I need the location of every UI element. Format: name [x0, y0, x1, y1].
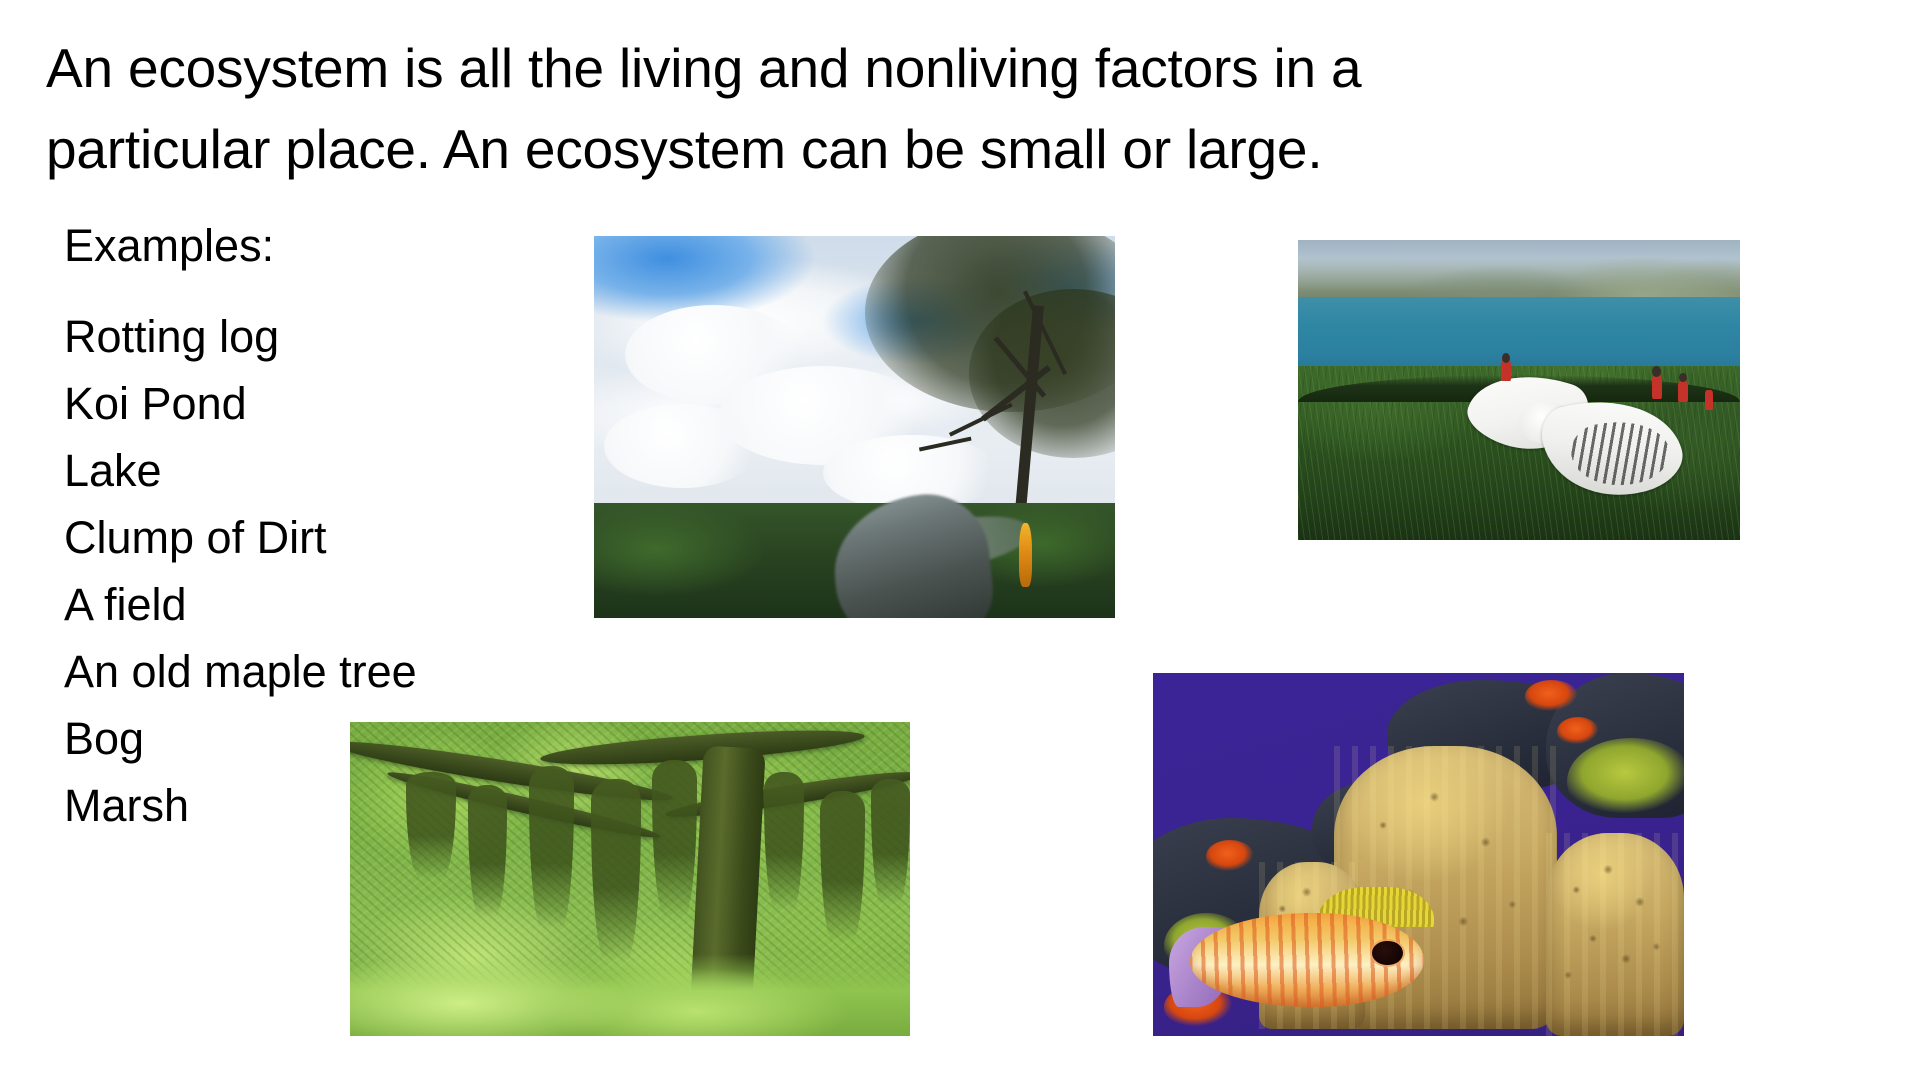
- list-item: A field: [64, 571, 624, 638]
- person-red-jacket: [1501, 360, 1511, 381]
- hanging-moss: [764, 772, 803, 910]
- fish-eye: [1372, 941, 1402, 966]
- orange-coral: [1557, 717, 1599, 746]
- forest-floor: [350, 954, 910, 1036]
- list-item: Lake: [64, 437, 624, 504]
- cloud-shape: [604, 404, 760, 488]
- hanging-moss: [406, 772, 456, 879]
- list-item: An old maple tree: [64, 638, 624, 705]
- orange-flower: [1019, 523, 1033, 588]
- person-red-jacket: [1678, 381, 1688, 402]
- hanging-moss: [529, 766, 574, 929]
- title-line-1: An ecosystem is all the living and nonli…: [46, 28, 1826, 109]
- coral-reef-photo: [1153, 673, 1684, 1036]
- examples-heading: Examples:: [64, 218, 624, 273]
- mossy-rainforest-photo: [350, 722, 910, 1036]
- person-head: [1652, 366, 1660, 377]
- sponge-texture: [1546, 833, 1684, 1036]
- orange-coral: [1525, 680, 1578, 713]
- list-item: Rotting log: [64, 303, 624, 370]
- person-head: [1502, 353, 1510, 363]
- list-item: Koi Pond: [64, 370, 624, 437]
- hanging-moss: [652, 760, 697, 917]
- hanging-moss: [820, 791, 865, 942]
- albatross-coast-photo: [1298, 240, 1740, 540]
- person-red-jacket: [1705, 390, 1714, 410]
- hanging-moss: [871, 779, 910, 905]
- tree-over-river-photo: [594, 236, 1115, 618]
- hanging-moss: [591, 779, 641, 961]
- list-item: Clump of Dirt: [64, 504, 624, 571]
- slide-title: An ecosystem is all the living and nonli…: [46, 28, 1826, 190]
- squirrelfish: [1190, 913, 1424, 1007]
- hanging-moss: [468, 785, 507, 917]
- title-line-2: particular place. An ecosystem can be sm…: [46, 109, 1826, 190]
- tube-sponge: [1546, 833, 1684, 1036]
- person-red-jacket: [1652, 375, 1663, 399]
- orange-coral: [1206, 840, 1254, 873]
